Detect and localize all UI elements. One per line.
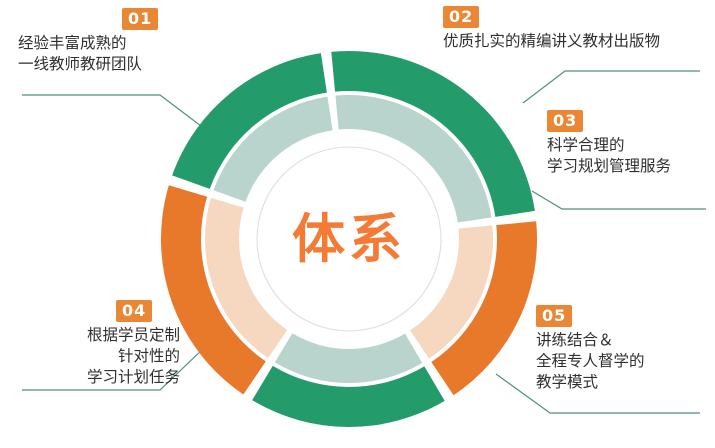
callout-01[interactable]: 01 经验丰富成熟的 一线教师教研团队 [18, 8, 188, 75]
donut-segment-03-inner[interactable] [275, 333, 422, 383]
callout-03-badge: 03 [547, 110, 583, 132]
callout-02[interactable]: 02 优质扎实的精编讲义教材出版物 [443, 6, 709, 52]
callout-04-badge: 04 [116, 300, 152, 322]
inner-hub-outline [257, 147, 441, 331]
callout-01-badge: 01 [122, 8, 158, 30]
donut-chart [143, 33, 555, 445]
callout-05[interactable]: 05 讲练结合＆ 全程专人督学的 教学模式 [536, 305, 714, 393]
connector-line-03 [532, 191, 706, 209]
infographic-canvas: 体系 01 经验丰富成熟的 一线教师教研团队 02 优质扎实的精编讲义教材出版物… [0, 0, 715, 448]
callout-04[interactable]: 04 根据学员定制 针对性的 学习计划任务 [20, 300, 180, 388]
donut-chart-svg [143, 33, 555, 445]
callout-02-badge: 02 [443, 6, 479, 28]
callout-03[interactable]: 03 科学合理的 学习规划管理服务 [547, 110, 713, 177]
callout-05-text: 讲练结合＆ 全程专人督学的 教学模式 [536, 330, 714, 393]
callout-03-badge-row: 03 [547, 110, 713, 132]
callout-05-badge-row: 05 [536, 305, 714, 327]
callout-02-badge-row: 02 [443, 6, 709, 28]
callout-01-badge-row: 01 [18, 8, 188, 30]
callout-04-text: 根据学员定制 针对性的 学习计划任务 [20, 325, 180, 388]
callout-03-text: 科学合理的 学习规划管理服务 [547, 135, 713, 177]
callout-04-badge-row: 04 [20, 300, 180, 322]
callout-01-text: 经验丰富成熟的 一线教师教研团队 [18, 33, 188, 75]
callout-05-badge: 05 [536, 305, 572, 327]
callout-02-text: 优质扎实的精编讲义教材出版物 [443, 31, 709, 52]
